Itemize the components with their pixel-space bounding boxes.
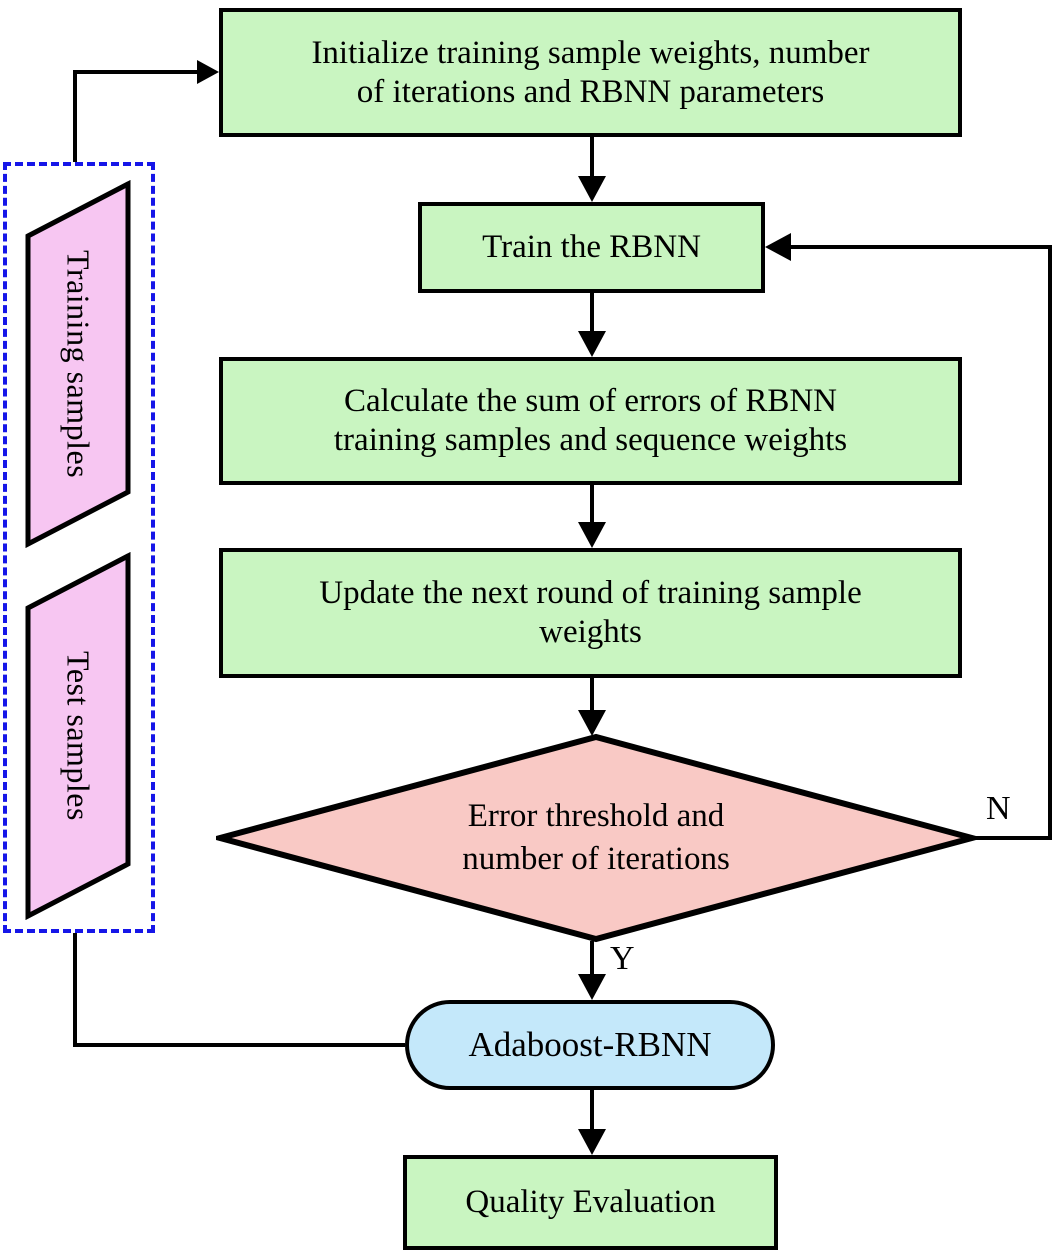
initialize-line-1: Initialize training sample weights, numb… [311,34,869,73]
edge-update-to-decision [578,678,606,736]
edge-label-yes: Y [610,940,635,978]
test-samples-node[interactable]: Test samples [22,552,134,920]
test-samples-label: Test samples [22,552,134,920]
training-samples-label: Training samples [22,180,134,548]
train-rbnn-label: Train the RBNN [482,228,701,267]
calculate-errors-node[interactable]: Calculate the sum of errors of RBNN trai… [219,357,962,485]
edge-train-to-calculate [578,293,606,357]
edge-label-no: N [986,790,1011,828]
edge-samples-to-initialize [75,60,219,162]
update-line-1: Update the next round of training sample [319,574,862,613]
adaboost-rbnn-label: Adaboost-RBNN [468,1024,711,1065]
initialize-line-2: of iterations and RBNN parameters [311,73,869,112]
decision-shape [216,732,976,944]
flowchart-canvas: Training samples Test samples Initialize… [0,0,1055,1252]
training-samples-node[interactable]: Training samples [22,180,134,548]
edge-initialize-to-train [578,137,606,202]
decision-node[interactable]: Error threshold and number of iterations [216,732,976,944]
update-line-2: weights [319,613,862,652]
edge-calculate-to-update [578,485,606,548]
edge-decision-yes-to-adaboost [578,941,606,1000]
edge-adaboost-to-quality [578,1090,606,1155]
train-rbnn-node[interactable]: Train the RBNN [418,202,765,293]
adaboost-rbnn-node[interactable]: Adaboost-RBNN [405,1000,775,1090]
quality-evaluation-label: Quality Evaluation [465,1183,715,1222]
edge-test-samples-to-adaboost [75,933,405,1045]
calculate-line-1: Calculate the sum of errors of RBNN [334,382,847,421]
initialize-node[interactable]: Initialize training sample weights, numb… [219,8,962,137]
update-weights-node[interactable]: Update the next round of training sample… [219,548,962,678]
calculate-line-2: training samples and sequence weights [334,421,847,460]
quality-evaluation-node[interactable]: Quality Evaluation [403,1155,778,1250]
